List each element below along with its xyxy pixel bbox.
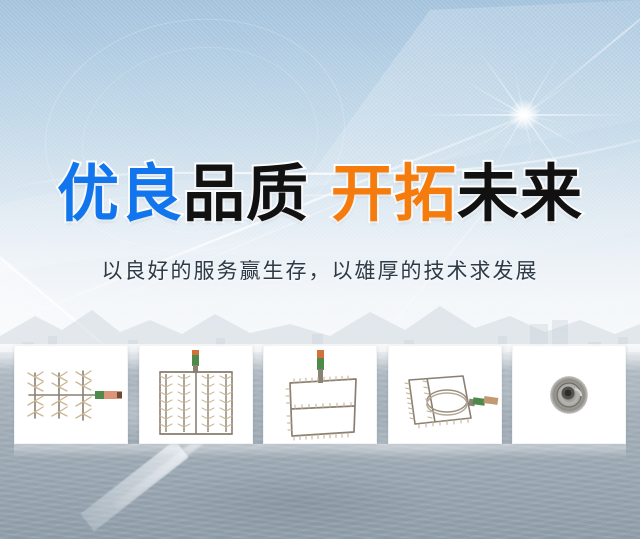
headline-segment-2: 品质 — [183, 163, 309, 225]
toothed-square-frame-icon — [264, 346, 376, 443]
headline-segment-4: 未来 — [457, 163, 583, 225]
promo-banner: 优良品质开拓未来 以良好的服务赢生存，以雄厚的技术求发展 — [0, 0, 640, 539]
product-card-strip — [14, 345, 626, 444]
product-card[interactable] — [263, 345, 377, 444]
ring-in-frame-tool-icon — [389, 346, 501, 443]
headline: 优良品质开拓未来 — [0, 163, 640, 225]
radial-spoke-disc-icon — [513, 346, 625, 443]
product-card[interactable] — [14, 345, 128, 444]
card-strip-reflection — [14, 444, 626, 458]
headline-segment-3: 开拓 — [331, 163, 457, 225]
subtitle: 以良好的服务赢生存，以雄厚的技术求发展 — [0, 258, 640, 284]
product-card[interactable] — [139, 345, 253, 444]
headline-segment-1: 优良 — [57, 163, 183, 225]
product-card[interactable] — [388, 345, 502, 444]
spiked-frame-brush-icon — [140, 346, 252, 443]
product-card[interactable] — [512, 345, 626, 444]
branched-rake-tool-icon — [15, 346, 127, 443]
